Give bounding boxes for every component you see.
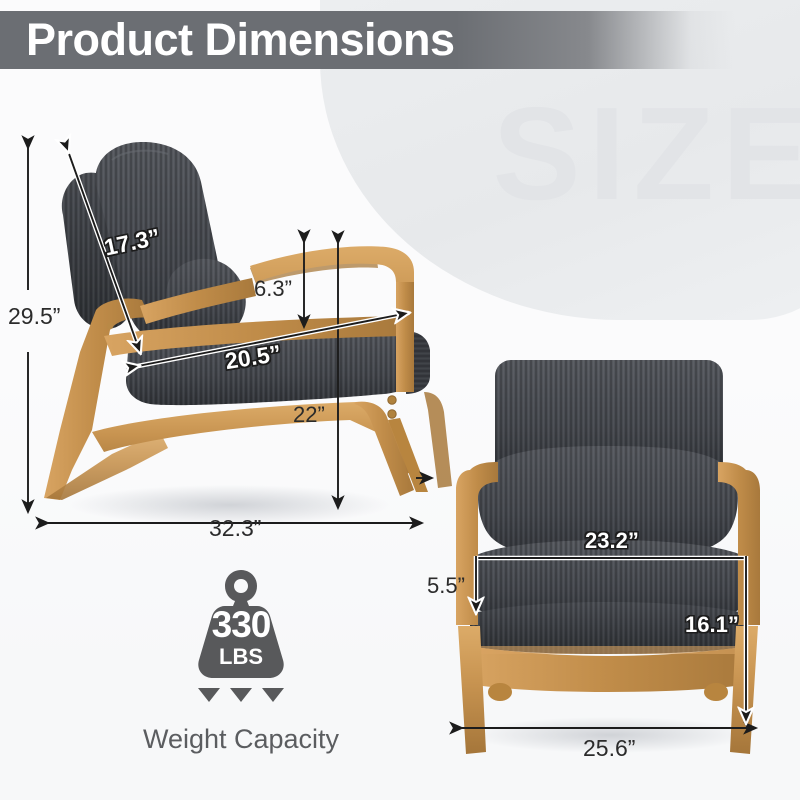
dim-label-seat-height: 16.1” xyxy=(685,612,739,638)
dim-label-cushion-thickness: 5.5” xyxy=(427,573,465,599)
weight-capacity-block: 330 LBS Weight Capacity xyxy=(112,566,370,755)
dimension-lines-front xyxy=(416,478,756,728)
dim-label-seat-width: 23.2” xyxy=(585,528,639,554)
dim-label-overall-width: 25.6” xyxy=(583,735,635,762)
weight-unit: LBS xyxy=(191,646,291,668)
dim-label-armrest-gap: 6.3” xyxy=(254,276,292,302)
frame-front-right-leg xyxy=(730,626,758,754)
chair-front-view xyxy=(456,360,760,754)
frame-front-apron xyxy=(468,646,750,692)
frame-sled xyxy=(92,402,418,476)
dim-label-overall-height: 29.5” xyxy=(8,303,60,330)
dim-label-armrest-height: 22” xyxy=(293,402,325,428)
dim-label-seat-depth: 20.5” xyxy=(223,340,283,375)
dimension-lines-side xyxy=(28,148,422,523)
product-dimensions-infographic: SIZE Product Dimensions xyxy=(0,0,800,800)
page-title: Product Dimensions xyxy=(26,13,455,67)
weight-value: 330 xyxy=(191,606,291,643)
dimension-lines-front-light xyxy=(476,556,746,722)
size-watermark: SIZE xyxy=(493,88,800,220)
dim-label-backrest-height: 17.3” xyxy=(102,223,163,261)
weight-icon-text-wrap: 330 LBS xyxy=(191,566,291,684)
front-backrest xyxy=(495,360,723,478)
frame-right-armrest xyxy=(718,462,760,625)
frame-front-leg xyxy=(354,402,414,496)
lumbar-pillow xyxy=(166,259,246,341)
dim-label-overall-depth: 32.3” xyxy=(209,515,261,542)
frame-left-armrest xyxy=(456,462,498,625)
frame-front-left-leg xyxy=(458,626,486,754)
chair-side-view xyxy=(44,142,452,525)
weight-caption: Weight Capacity xyxy=(112,724,370,755)
